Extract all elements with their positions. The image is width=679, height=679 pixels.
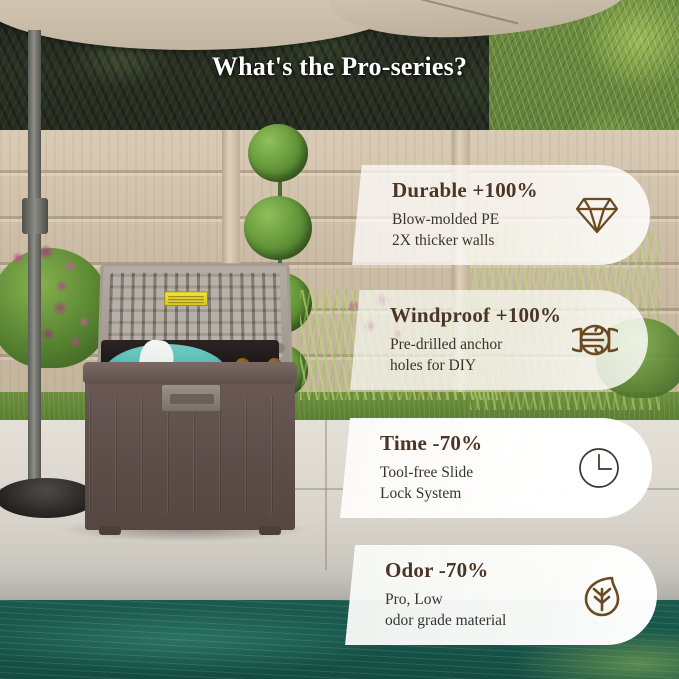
feature-card-title: Durable +100% <box>392 179 538 202</box>
deck-box-foot <box>259 526 281 535</box>
feature-card-line-1: Blow-molded PE <box>392 209 538 230</box>
feature-card-text: Durable +100% Blow-molded PE 2X thicker … <box>352 179 538 252</box>
feature-card-text: Time -70% Tool-free Slide Lock System <box>340 432 482 505</box>
feature-card-line-2: holes for DIY <box>390 355 561 376</box>
feature-card-title: Windproof +100% <box>390 304 561 327</box>
feature-card-windproof[interactable]: Windproof +100% Pre-drilled anchor holes… <box>350 290 648 390</box>
deck-box-product <box>85 262 295 530</box>
deck-box-latch <box>161 384 221 412</box>
umbrella-pole <box>28 30 41 490</box>
clock-icon <box>572 441 626 495</box>
warning-label <box>164 291 208 306</box>
feature-card-line-2: 2X thicker walls <box>392 230 538 251</box>
feature-card-line-1: Tool-free Slide <box>380 462 482 483</box>
topiary-ball <box>248 124 308 182</box>
feature-card-odor[interactable]: Odor -70% Pro, Low odor grade material <box>345 545 657 645</box>
feature-card-line-2: odor grade material <box>385 610 506 631</box>
feature-card-line-2: Lock System <box>380 483 482 504</box>
feature-card-text: Windproof +100% Pre-drilled anchor holes… <box>350 304 561 377</box>
feature-card-time[interactable]: Time -70% Tool-free Slide Lock System <box>340 418 652 518</box>
feature-card-title: Odor -70% <box>385 559 506 582</box>
deck-box-foot <box>99 526 121 535</box>
diamond-icon <box>570 188 624 242</box>
page-title: What's the Pro-series? <box>0 52 679 82</box>
feature-card-durable[interactable]: Durable +100% Blow-molded PE 2X thicker … <box>352 165 650 265</box>
feature-card-line-1: Pro, Low <box>385 589 506 610</box>
flower-cluster <box>0 244 95 304</box>
feature-card-text: Odor -70% Pro, Low odor grade material <box>345 559 506 632</box>
umbrella-pole-joint <box>22 198 48 234</box>
leaf-icon <box>577 568 631 622</box>
feature-card-line-1: Pre-drilled anchor <box>390 334 561 355</box>
deck-box-rim <box>83 362 297 384</box>
topiary-ball <box>244 196 312 260</box>
umbrella-base <box>0 478 96 518</box>
wind-icon <box>568 313 622 367</box>
product-feature-graphic: What's the Pro-series? Durable +100% Blo… <box>0 0 679 679</box>
feature-card-title: Time -70% <box>380 432 482 455</box>
